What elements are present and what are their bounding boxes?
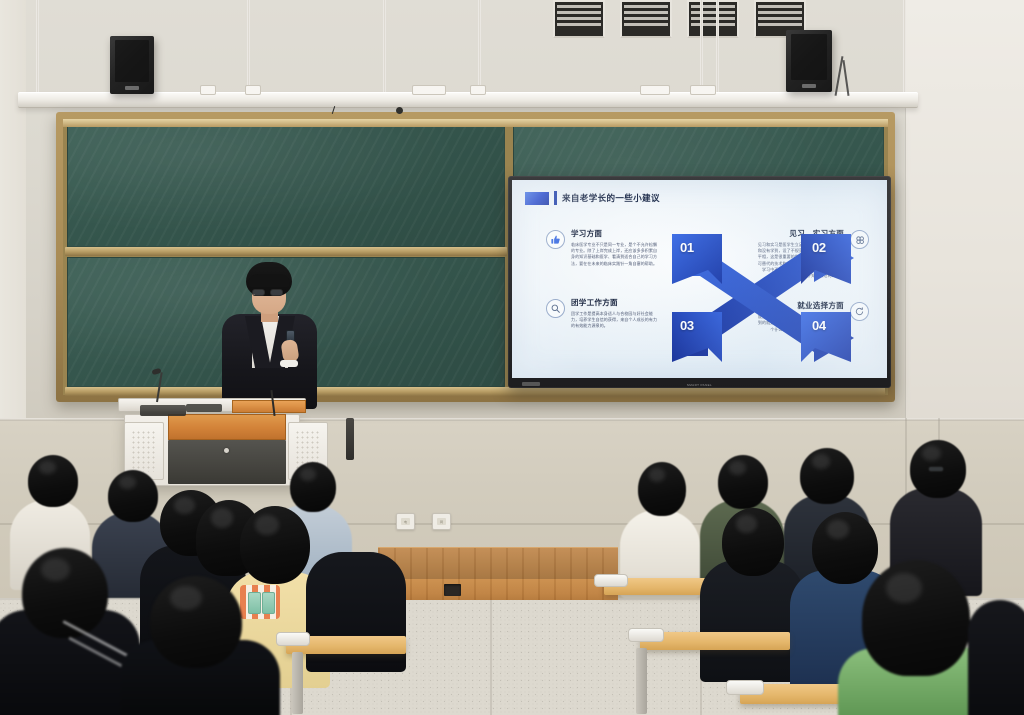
- chalk-ledge: [65, 247, 507, 256]
- student-head: [800, 448, 854, 504]
- hair-highlight: [649, 468, 665, 482]
- wall-speaker-right: [786, 30, 832, 92]
- student-glasses: [928, 466, 944, 472]
- diagram-number-01: 01: [680, 240, 694, 255]
- magnifier-icon: [546, 299, 565, 318]
- student-head: [812, 512, 878, 584]
- diagram-number-04: 04: [812, 318, 826, 333]
- slide-title-row: 来自老学长的一些小建议: [525, 191, 660, 205]
- stage-cable-port: [444, 584, 461, 596]
- podium-side-post: [346, 418, 354, 460]
- ceiling-mount-rail: [18, 92, 918, 108]
- diagram-number-03: 03: [680, 318, 694, 333]
- diagram-number-02: 02: [812, 240, 826, 255]
- wall-speaker-left: [110, 36, 154, 94]
- student-head: [240, 506, 310, 584]
- hair-highlight: [41, 558, 70, 581]
- podium-equipment: [140, 405, 186, 416]
- hair-highlight: [922, 446, 941, 461]
- rail-clip: [470, 85, 486, 95]
- title-accent-bar: [554, 191, 557, 205]
- student-body: [306, 552, 406, 672]
- rail-clip: [200, 85, 216, 95]
- podium-wood-panel: [168, 414, 286, 440]
- student-head-long-hair: [862, 560, 970, 676]
- thumbs-up-icon: [546, 230, 565, 249]
- student-head: [718, 455, 768, 509]
- slide-section-study: 学习方面 临床医学专业不只是同一专业，是个不允许松懈的专业。除了上岸完成上岸，还…: [546, 228, 658, 267]
- ceiling-hanger-rod: [247, 0, 250, 95]
- podium-lock-knob: [224, 448, 229, 453]
- rail-clip: [690, 85, 716, 95]
- slide-title: 来自老学长的一些小建议: [562, 192, 660, 204]
- speaker-badge: [125, 86, 139, 90]
- display-brand-label: SMART PANEL: [687, 383, 712, 387]
- section-body: 临床医学专业不只是同一专业，是个不允许松懈的专业。除了上岸完成上岸，还应该多多积…: [546, 242, 658, 267]
- ac-vent-panel: [620, 0, 672, 38]
- rail-clip: [640, 85, 670, 95]
- student-head: [290, 462, 336, 512]
- podium-equipment-secondary: [186, 404, 222, 412]
- hair-highlight: [39, 461, 56, 475]
- podium-wood-trim-upper: [232, 400, 306, 413]
- hair-highlight: [812, 454, 830, 469]
- desk-edge-cap: [726, 680, 764, 695]
- student-body: [968, 600, 1024, 715]
- title-accent-square: [525, 192, 549, 205]
- slide-column-left: 学习方面 临床医学专业不只是同一专业，是个不允许松懈的专业。除了上岸完成上岸，还…: [546, 228, 658, 350]
- ac-vent-panel: [553, 0, 605, 38]
- student-head: [108, 470, 158, 522]
- hair-highlight: [827, 520, 849, 539]
- speaker-grille: [115, 40, 149, 82]
- ceiling-hanger-rod: [383, 0, 386, 95]
- hair-highlight: [170, 586, 201, 610]
- drink-cup: [262, 592, 275, 614]
- hair-highlight: [211, 508, 233, 528]
- rail-clip: [412, 85, 446, 95]
- podium-front-panel: [168, 440, 286, 484]
- desk-leg: [292, 652, 303, 714]
- hair-highlight: [736, 515, 757, 533]
- hair-highlight: [119, 476, 136, 490]
- ceiling-hanger-rod: [700, 0, 703, 95]
- display-power-indicator: [522, 382, 540, 386]
- desk-edge-cap: [276, 632, 310, 646]
- student-head: [28, 455, 78, 507]
- drink-cup: [248, 592, 261, 614]
- slide-section-club-work: 团学工作方面 团学工作是提高本身适人与合校园与好社会能力，培养学生自信的获得，来…: [546, 297, 658, 330]
- ceiling-hanger-rod: [903, 0, 906, 95]
- hair-highlight: [174, 497, 195, 514]
- desk-edge-cap: [628, 628, 664, 642]
- wall-outlet-power[interactable]: 电: [396, 513, 415, 530]
- x-arrow-diagram: 01 02 03 04: [664, 228, 859, 368]
- floor-seam: [490, 600, 492, 715]
- interactive-display[interactable]: 来自老学长的一些小建议 学习方面 临床医学专业不只是同一专业，是个不允许松懈的专…: [508, 176, 891, 388]
- ceiling-hanger-rod: [716, 0, 719, 95]
- outlet-label: 网: [437, 518, 446, 525]
- ac-vent-panel: [687, 0, 739, 38]
- board-top-trim: [63, 119, 888, 127]
- ceiling-hanger-rod: [478, 0, 481, 95]
- stage-platform-top: [378, 547, 618, 579]
- presenter-cuff: [280, 360, 298, 367]
- chalkboard-panel: [67, 123, 505, 247]
- speaker-badge: [802, 84, 816, 88]
- presenter: [206, 262, 324, 410]
- student-head: [722, 508, 784, 576]
- hair-highlight: [729, 461, 746, 475]
- student-head: [150, 576, 242, 668]
- wall-right-panel: [905, 0, 1024, 432]
- lecture-hall-photo: 来自老学长的一些小建议 学习方面 临床医学专业不只是同一专业，是个不允许松懈的专…: [0, 0, 1024, 715]
- ceiling-hanger-rod: [36, 0, 39, 95]
- presentation-slide: 来自老学长的一些小建议 学习方面 临床医学专业不只是同一专业，是个不允许松懈的专…: [512, 180, 887, 378]
- presenter-glasses-left: [252, 289, 265, 296]
- presenter-fringe: [248, 274, 290, 287]
- desk-edge-cap: [594, 574, 628, 587]
- hair-highlight: [886, 573, 923, 603]
- chalk-ledge: [65, 387, 885, 396]
- speaker-grille: [791, 34, 827, 80]
- hair-highlight: [255, 515, 279, 535]
- presenter-glasses-right: [270, 289, 283, 296]
- desk-leg: [636, 648, 647, 714]
- wall-outlet-network[interactable]: 网: [432, 513, 451, 530]
- wood-grain: [378, 548, 618, 579]
- outlet-label: 电: [401, 518, 410, 525]
- student-body: [700, 560, 804, 682]
- wall-left-edge: [0, 0, 26, 432]
- student-head: [638, 462, 686, 516]
- rail-clip: [245, 85, 261, 95]
- hair-highlight: [300, 468, 316, 481]
- board-clip: [396, 107, 403, 114]
